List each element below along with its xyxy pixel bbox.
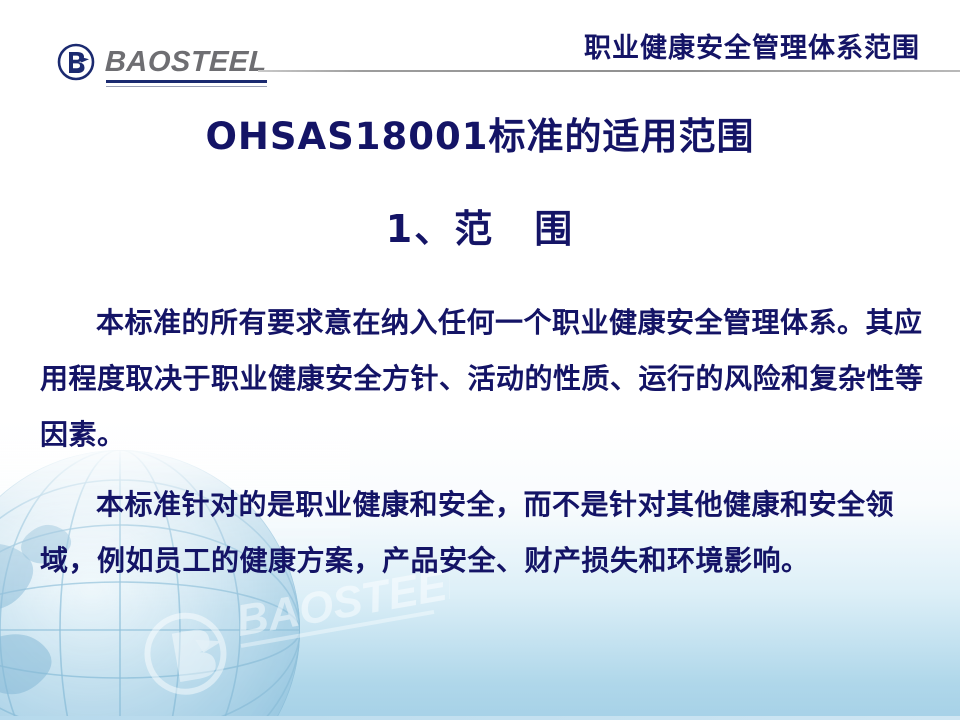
- slide-content: OHSAS18001标准的适用范围 1、范 围 本标准的所有要求意在纳入任何一个…: [0, 88, 960, 589]
- baosteel-logo: BAOSTEEL: [56, 40, 267, 84]
- body-paragraph-2: 本标准针对的是职业健康和安全，而不是针对其他健康和安全领域，例如员工的健康方案，…: [0, 477, 960, 589]
- logo-underline: [106, 80, 267, 83]
- baosteel-wordmark: BAOSTEEL: [105, 48, 267, 77]
- bottom-accent-line: [0, 716, 960, 720]
- baosteel-emblem-icon: [56, 42, 96, 82]
- logo-word: BAOSTEEL: [104, 48, 267, 77]
- slide-header: BAOSTEEL 职业健康安全管理体系范围: [0, 0, 960, 88]
- header-divider: [258, 70, 960, 72]
- logo-underline-secondary: [106, 86, 267, 87]
- slide: BAOSTEEL BAOSTEEL 职业健康安全管理体系范围: [0, 0, 960, 720]
- header-title: 职业健康安全管理体系范围: [584, 26, 920, 65]
- body-paragraph-1: 本标准的所有要求意在纳入任何一个职业健康安全管理体系。其应用程度取决于职业健康安…: [0, 295, 960, 463]
- page-title: OHSAS18001标准的适用范围: [0, 106, 960, 160]
- section-heading: 1、范 围: [0, 198, 960, 253]
